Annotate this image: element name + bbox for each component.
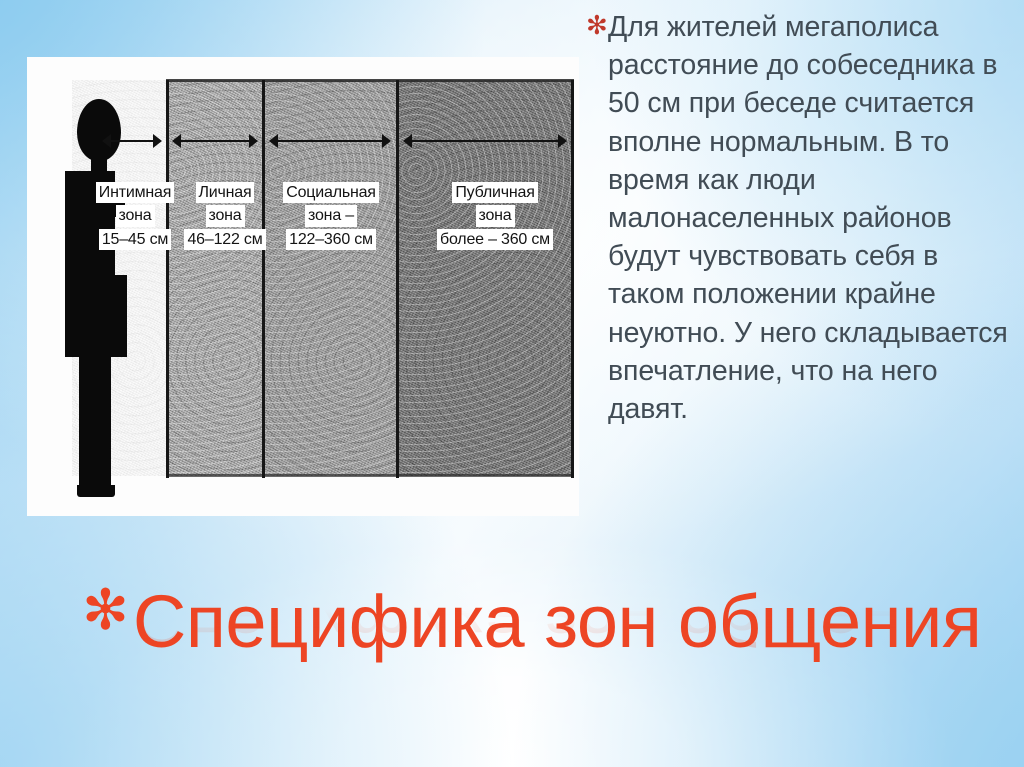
proxemic-zones-figure: Интимная зона 15–45 см Личная зона 46–12…	[27, 57, 579, 516]
asterisk-bullet-icon: ✻	[586, 8, 608, 42]
person-silhouette-icon	[57, 99, 129, 499]
title-asterisk-bullet-icon: ✻	[82, 582, 129, 638]
zone-label-range: 15–45 см	[99, 229, 171, 250]
arrow-head-right-icon	[249, 134, 258, 148]
presentation-slide: Интимная зона 15–45 см Личная зона 46–12…	[0, 0, 1024, 767]
zone-label-name-line2: зона	[206, 205, 245, 226]
zone-label-intimate: Интимная зона 15–45 см	[83, 182, 187, 252]
arrow-head-right-icon	[153, 134, 162, 148]
arrow-head-right-icon	[558, 134, 567, 148]
slide-title-block: ✻ Специфика зон общения Специфика зон об…	[82, 582, 962, 738]
zone-label-personal: Личная зона 46–122 см	[173, 182, 277, 252]
body-paragraph-text: Для жителей мегаполиса расстояние до соб…	[608, 8, 1018, 428]
zone-label-range: 46–122 см	[184, 229, 265, 250]
silhouette-hip	[65, 275, 127, 357]
zone-divider-2	[262, 80, 265, 478]
zone-label-name-line2: зона	[476, 205, 515, 226]
silhouette-legs	[79, 351, 111, 493]
zones-container: Интимная зона 15–45 см Личная зона 46–12…	[27, 57, 579, 516]
zone-divider-4	[571, 80, 574, 478]
page-title-reflection: Специфика зон общения	[133, 578, 982, 658]
zone-label-name-line2: зона	[116, 205, 155, 226]
arrow-shaft	[275, 140, 385, 142]
band-bottom-edge	[166, 474, 574, 477]
silhouette-head	[77, 99, 121, 161]
zone-label-name-line2: зона –	[305, 205, 357, 226]
measure-arrow-intimate	[102, 134, 162, 148]
zone-label-name-line1: Интимная	[96, 182, 174, 203]
title-stack: Специфика зон общения Специфика зон обще…	[133, 582, 982, 738]
silhouette-feet	[77, 485, 115, 497]
zone-label-name-line1: Социальная	[283, 182, 379, 203]
zone-divider-1	[166, 80, 169, 478]
zone-label-name-line1: Личная	[196, 182, 255, 203]
arrow-shaft	[409, 140, 561, 142]
arrow-shaft	[178, 140, 252, 142]
arrow-shaft	[108, 140, 156, 142]
zone-label-social: Социальная зона – 122–360 см	[267, 182, 395, 252]
zone-divider-3	[396, 80, 399, 478]
zone-label-name-line1: Публичная	[452, 182, 537, 203]
body-text-block: ✻ Для жителей мегаполиса расстояние до с…	[586, 8, 1018, 428]
arrow-head-right-icon	[382, 134, 391, 148]
zone-label-range: 122–360 см	[286, 229, 376, 250]
measure-arrow-personal	[172, 134, 258, 148]
zone-label-range: более – 360 см	[437, 229, 553, 250]
band-top-edge	[166, 79, 574, 82]
measure-arrow-social	[269, 134, 391, 148]
bullet-paragraph: ✻ Для жителей мегаполиса расстояние до с…	[586, 8, 1018, 428]
measure-arrow-public	[403, 134, 567, 148]
zone-label-public: Публичная зона более – 360 см	[419, 182, 571, 252]
